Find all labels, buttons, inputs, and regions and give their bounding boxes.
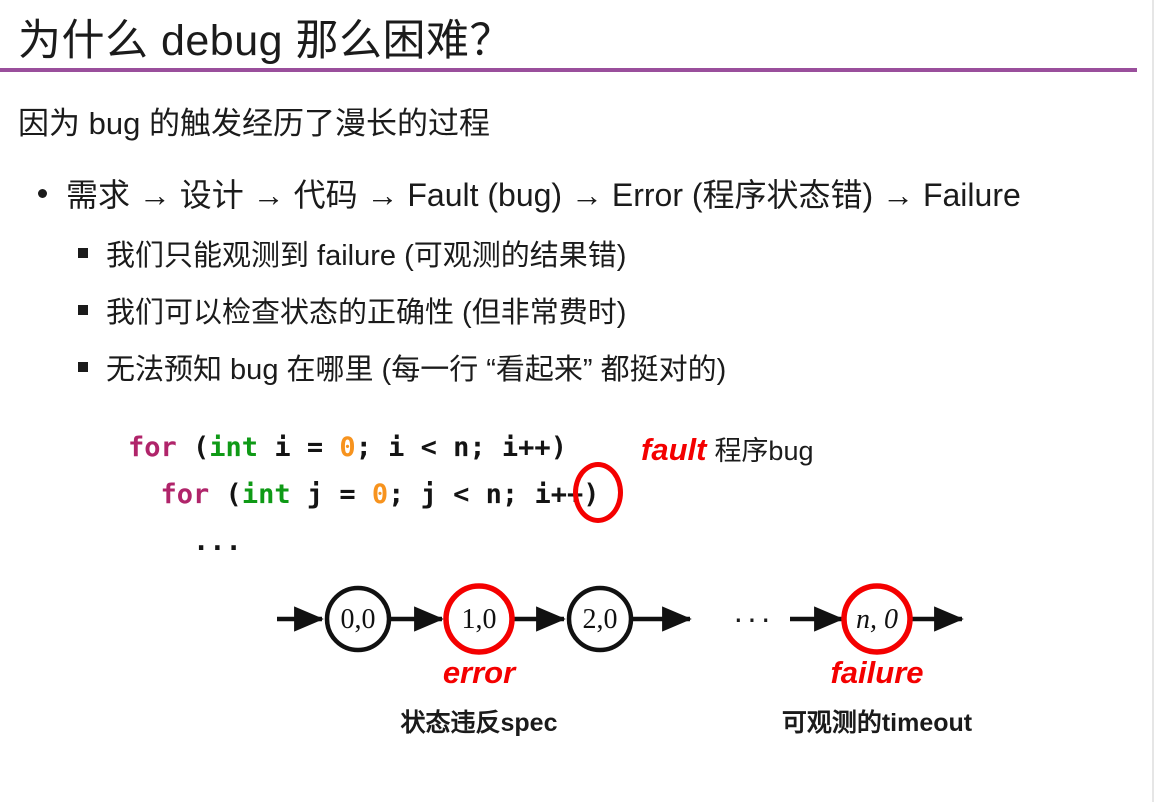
page-title: 为什么 debug 那么困难？ xyxy=(18,6,513,68)
code-type-int: int xyxy=(209,432,258,463)
code-indent xyxy=(128,479,161,510)
code-line-2: for (int j = 0; j < n; i++) xyxy=(128,479,599,510)
state-node-0-0-label: 0,0 xyxy=(341,604,376,636)
failure-caption: 可观测的timeout xyxy=(782,703,972,739)
code-keyword-for: for xyxy=(128,432,177,463)
code-bug-highlight-circle xyxy=(573,462,623,523)
bullet-square-icon xyxy=(78,362,88,372)
state-node-n-0-label: n, 0 xyxy=(856,604,898,636)
bullet-level2-1: 我们可以检查状态的正确性 (但非常费时) xyxy=(78,289,626,331)
state-node-2-0-label: 2,0 xyxy=(583,604,618,636)
fault-annotation: fault程序bug xyxy=(641,429,814,468)
error-caption: 状态违反spec xyxy=(401,703,558,739)
bullet-square-icon xyxy=(78,248,88,258)
code-block: for (int i = 0; i < n; i++) for (int j =… xyxy=(128,424,599,565)
code-type-int: int xyxy=(242,479,291,510)
code-keyword-for: for xyxy=(161,479,210,510)
state-node-1-0-label: 1,0 xyxy=(462,604,497,636)
bullet-dot-icon xyxy=(38,189,47,198)
bullet-level2-2: 无法预知 bug 在哪里 (每一行 “看起来” 都挺对的) xyxy=(78,346,726,388)
bullet-level2-0: 我们只能观测到 failure (可观测的结果错) xyxy=(78,232,626,274)
fault-label: fault xyxy=(641,432,706,467)
failure-tag: failure xyxy=(830,655,923,691)
bullet-level2-label: 我们可以检查状态的正确性 (但非常费时) xyxy=(106,289,626,331)
fault-zh-label: 程序bug xyxy=(714,436,813,466)
code-text: ; j < n; i++) xyxy=(388,479,599,510)
bullet-square-icon xyxy=(78,305,88,315)
bullet-level2-label: 我们只能观测到 failure (可观测的结果错) xyxy=(106,232,626,274)
code-punct: ( xyxy=(209,479,242,510)
bullet-level2-label: 无法预知 bug 在哪里 (每一行 “看起来” 都挺对的) xyxy=(106,346,726,388)
subtitle-text: 因为 bug 的触发经历了漫长的过程 xyxy=(18,98,490,143)
code-text: i = xyxy=(258,432,339,463)
code-line-3: ... xyxy=(128,526,242,557)
bullet-level1-label: 需求 → 设计 → 代码 → Fault (bug) → Error (程序状态… xyxy=(66,170,1021,216)
code-number: 0 xyxy=(372,479,388,510)
error-tag: error xyxy=(443,655,515,691)
code-line-1: for (int i = 0; i < n; i++) xyxy=(128,432,567,463)
bullet-level1: 需求 → 设计 → 代码 → Fault (bug) → Error (程序状态… xyxy=(38,170,1021,216)
code-punct: ( xyxy=(177,432,210,463)
title-divider xyxy=(0,68,1137,72)
code-text: ; i < n; i++) xyxy=(356,432,567,463)
slide-canvas: 为什么 debug 那么困难？ 因为 bug 的触发经历了漫长的过程 需求 → … xyxy=(0,0,1154,802)
code-number: 0 xyxy=(339,432,355,463)
diagram-ellipsis: ··· xyxy=(733,600,774,637)
code-text: j = xyxy=(291,479,372,510)
